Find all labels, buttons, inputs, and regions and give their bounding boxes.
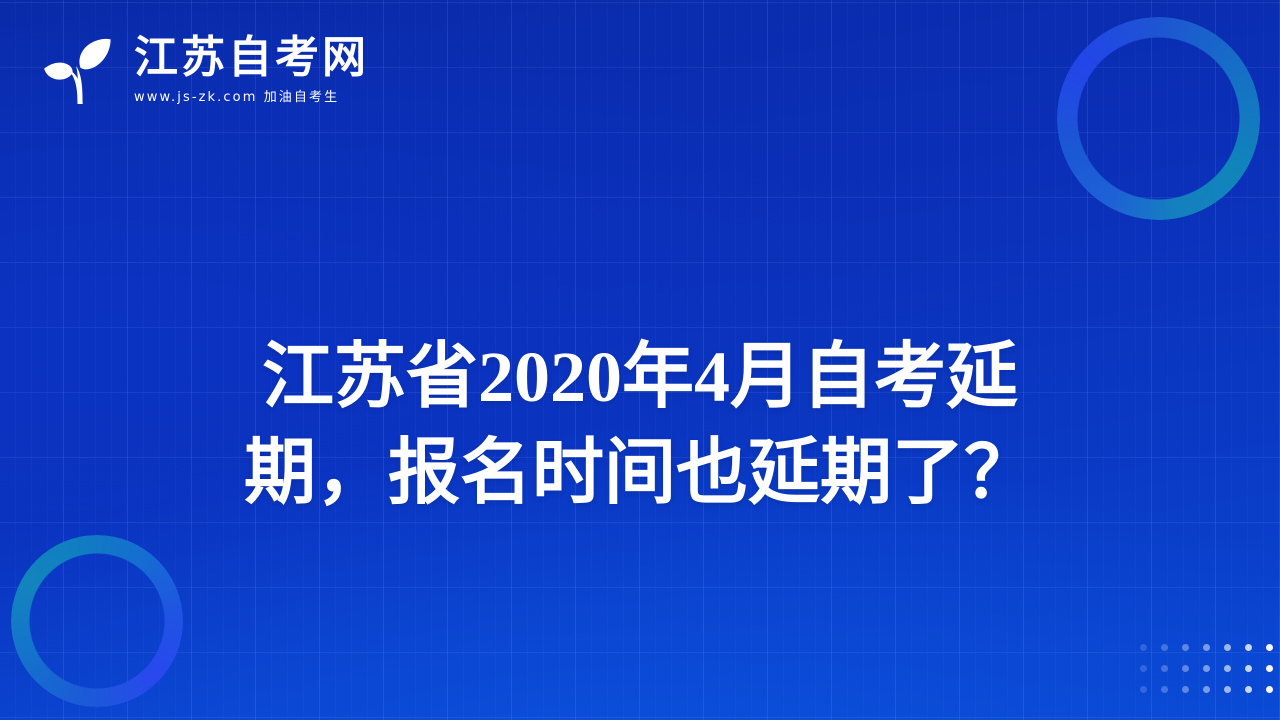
page-title-line-2: 期，报名时间也延期了？ [120, 426, 1160, 522]
dot-grid-icon [1133, 637, 1280, 700]
poster-canvas: 江苏自考网 www.js-zk.com 加油自考生 江苏省2020年4月自考延 … [0, 0, 1280, 720]
page-title-line-1: 江苏省2020年4月自考延 [120, 330, 1160, 426]
brand-text: 江苏自考网 www.js-zk.com 加油自考生 [134, 36, 369, 104]
brand-name: 江苏自考网 [134, 36, 369, 80]
page-title: 江苏省2020年4月自考延 期，报名时间也延期了？ [0, 330, 1280, 522]
brand-tagline: www.js-zk.com 加油自考生 [134, 91, 369, 104]
sprout-icon [36, 26, 120, 110]
brand-logo[interactable]: 江苏自考网 www.js-zk.com 加油自考生 [36, 26, 369, 110]
ring-bottom-left-icon [11, 535, 183, 707]
ring-top-right-icon [1057, 17, 1260, 220]
